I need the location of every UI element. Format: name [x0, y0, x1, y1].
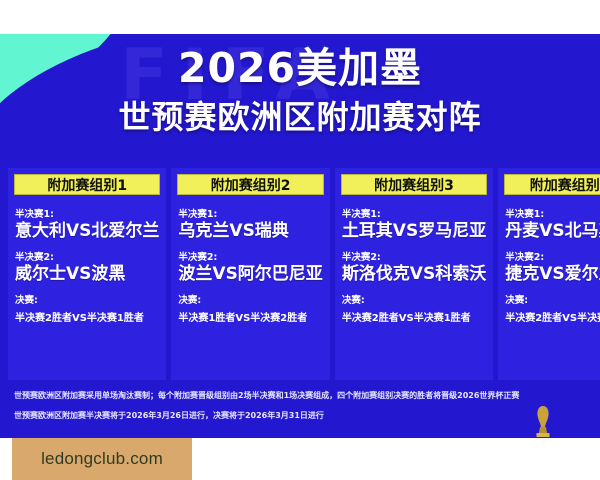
- final-label: 决赛:: [15, 292, 159, 306]
- group-3-semifinal2-match: 斯洛伐克VS科索沃: [342, 264, 486, 285]
- screenshot-root: FIFA 2026美加墨 世预赛欧洲区附加赛对阵 附加赛组别1 半决赛1: 意大…: [0, 0, 600, 480]
- group-header-2: 附加赛组别2: [177, 174, 323, 195]
- poster-title-line1: 2026美加墨: [0, 42, 600, 94]
- final-label: 决赛:: [342, 292, 486, 306]
- group-body-3: 半决赛1: 土耳其VS罗马尼亚 半决赛2: 斯洛伐克VS科索沃 决赛: 半决赛2…: [335, 195, 493, 380]
- group-4-final-match: 半决赛2胜者VS半决赛1胜者: [505, 309, 600, 324]
- poster-panel: FIFA 2026美加墨 世预赛欧洲区附加赛对阵 附加赛组别1 半决赛1: 意大…: [0, 34, 600, 438]
- semifinal1-label: 半决赛1:: [15, 206, 159, 220]
- group-header-1: 附加赛组别1: [14, 174, 160, 195]
- group-1-final-match: 半决赛2胜者VS半决赛1胜者: [15, 309, 159, 324]
- trophy-icon: [530, 404, 556, 438]
- channel-watermark: 头条 @鹊华视频: [483, 436, 586, 438]
- url-banner-text: ledongclub.com: [41, 449, 163, 469]
- group-card-3: 附加赛组别3 半决赛1: 土耳其VS罗马尼亚 半决赛2: 斯洛伐克VS科索沃 决…: [335, 168, 493, 380]
- group-2-semifinal1-match: 乌克兰VS瑞典: [178, 221, 322, 242]
- semifinal1-label: 半决赛1:: [178, 206, 322, 220]
- group-body-2: 半决赛1: 乌克兰VS瑞典 半决赛2: 波兰VS阿尔巴尼亚 决赛: 半决赛1胜者…: [171, 195, 329, 380]
- semifinal2-label: 半决赛2:: [342, 249, 486, 263]
- final-label: 决赛:: [505, 292, 600, 306]
- group-card-2: 附加赛组别2 半决赛1: 乌克兰VS瑞典 半决赛2: 波兰VS阿尔巴尼亚 决赛:…: [171, 168, 329, 380]
- group-header-4: 附加赛组别4: [504, 174, 600, 195]
- group-body-4: 半决赛1: 丹麦VS北马其顿 半决赛2: 捷克VS爱尔兰 决赛: 半决赛2胜者V…: [498, 195, 600, 380]
- group-cards-row: 附加赛组别1 半决赛1: 意大利VS北爱尔兰 半决赛2: 威尔士VS波黑 决赛:…: [8, 168, 592, 380]
- final-label: 决赛:: [178, 292, 322, 306]
- group-3-final-match: 半决赛2胜者VS半决赛1胜者: [342, 309, 486, 324]
- group-card-4: 附加赛组别4 半决赛1: 丹麦VS北马其顿 半决赛2: 捷克VS爱尔兰 决赛: …: [498, 168, 600, 380]
- group-3-semifinal1-match: 土耳其VS罗马尼亚: [342, 221, 486, 242]
- group-4-semifinal1-match: 丹麦VS北马其顿: [505, 221, 600, 242]
- group-1-semifinal1-match: 意大利VS北爱尔兰: [15, 221, 159, 242]
- footnote-line-2: 世预赛欧洲区附加赛半决赛将于2026年3月26日进行，决赛将于2026年3月31…: [14, 410, 586, 421]
- group-2-semifinal2-match: 波兰VS阿尔巴尼亚: [178, 264, 322, 285]
- semifinal1-label: 半决赛1:: [505, 206, 600, 220]
- group-4-semifinal2-match: 捷克VS爱尔兰: [505, 264, 600, 285]
- group-1-semifinal2-match: 威尔士VS波黑: [15, 264, 159, 285]
- semifinal2-label: 半决赛2:: [505, 249, 600, 263]
- poster-title-line2: 世预赛欧洲区附加赛对阵: [0, 96, 600, 138]
- semifinal2-label: 半决赛2:: [15, 249, 159, 263]
- group-2-final-match: 半决赛1胜者VS半决赛2胜者: [178, 309, 322, 324]
- footnote-line-1: 世预赛欧洲区附加赛采用单场淘汰赛制；每个附加赛晋级组别由2场半决赛和1场决赛组成…: [14, 390, 586, 401]
- group-card-1: 附加赛组别1 半决赛1: 意大利VS北爱尔兰 半决赛2: 威尔士VS波黑 决赛:…: [8, 168, 166, 380]
- group-body-1: 半决赛1: 意大利VS北爱尔兰 半决赛2: 威尔士VS波黑 决赛: 半决赛2胜者…: [8, 195, 166, 380]
- group-header-3: 附加赛组别3: [341, 174, 487, 195]
- url-banner[interactable]: ledongclub.com: [12, 438, 192, 480]
- semifinal1-label: 半决赛1:: [342, 206, 486, 220]
- semifinal2-label: 半决赛2:: [178, 249, 322, 263]
